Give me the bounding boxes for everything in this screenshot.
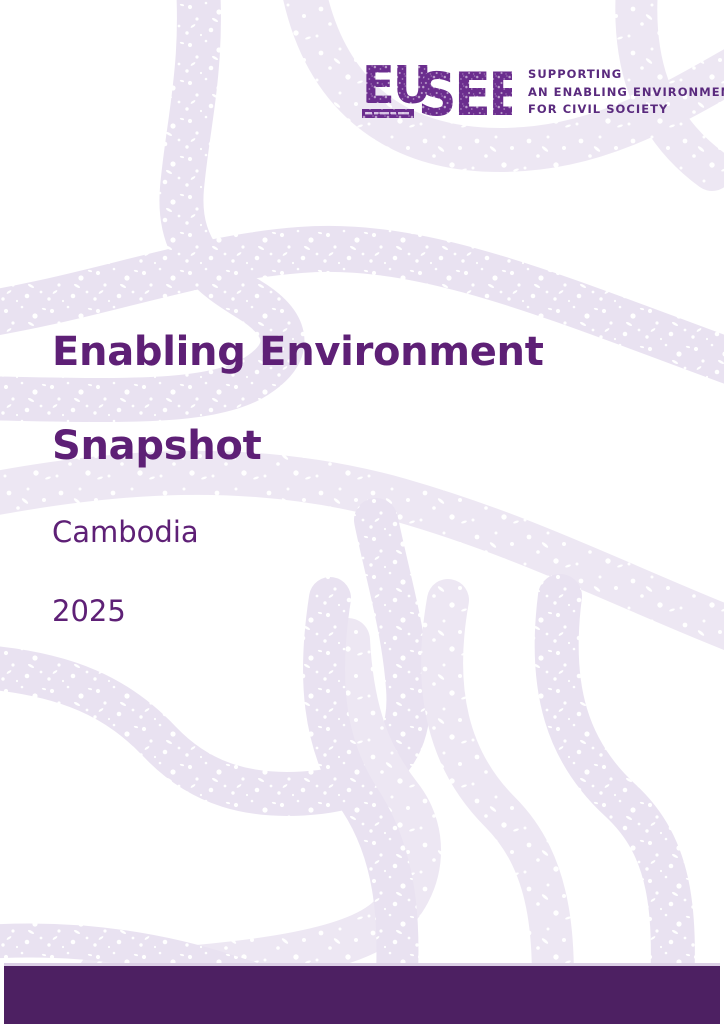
svg-text:SEE: SEE (418, 60, 512, 127)
logo-tagline-line-2: AN ENABLING ENVIRONMENT (528, 84, 724, 102)
logo-tagline-line-1: SUPPORTING (528, 66, 724, 84)
page-title-line-2: Snapshot (52, 399, 672, 493)
document-cover-page: EU SEE SUPPORTING AN ENABLING ENVIRONMEN… (0, 0, 724, 1024)
logo-tagline: SUPPORTING AN ENABLING ENVIRONMENT FOR C… (528, 66, 724, 119)
eu-see-wordmark-icon: EU SEE (362, 55, 512, 127)
cover-title-block: Enabling Environment Snapshot Cambodia 2… (52, 305, 672, 651)
footer-bar (4, 966, 720, 1024)
eu-see-logo: EU SEE SUPPORTING AN ENABLING ENVIRONMEN… (362, 55, 724, 127)
page-title-line-1: Enabling Environment (52, 305, 672, 399)
cover-year: 2025 (52, 572, 672, 651)
cover-country: Cambodia (52, 493, 672, 572)
logo-tagline-line-3: FOR CIVIL SOCIETY (528, 101, 724, 119)
